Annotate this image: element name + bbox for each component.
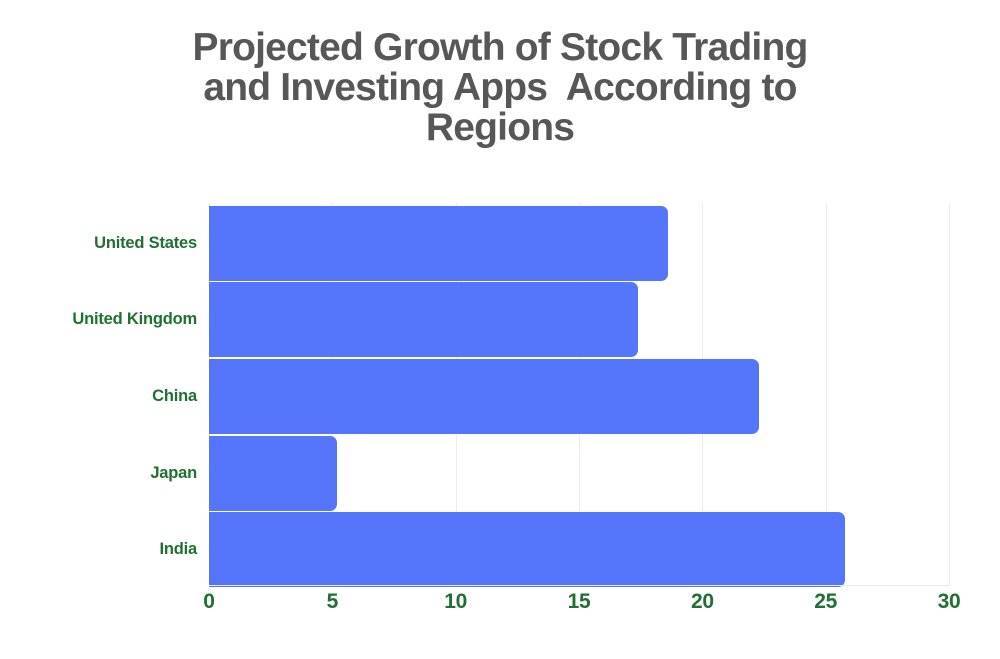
bar-row bbox=[209, 512, 949, 587]
bars-layer bbox=[209, 203, 949, 586]
bar-row bbox=[209, 282, 949, 357]
value-axis-tick-labels: 051015202530 bbox=[209, 590, 949, 624]
category-label-india: India bbox=[0, 512, 197, 587]
bar-china[interactable] bbox=[209, 359, 759, 434]
category-label-japan: Japan bbox=[0, 436, 197, 511]
bar-india[interactable] bbox=[209, 512, 845, 587]
bar-japan[interactable] bbox=[209, 436, 337, 511]
category-label-united-states: United States bbox=[0, 206, 197, 281]
category-label-china: China bbox=[0, 359, 197, 434]
x-axis-line bbox=[209, 585, 949, 586]
chart-title: Projected Growth of Stock Trading and In… bbox=[50, 28, 950, 147]
category-axis-labels: United StatesUnited KingdomChinaJapanInd… bbox=[0, 203, 197, 586]
bar-row bbox=[209, 206, 949, 281]
plot-area bbox=[209, 203, 949, 586]
x-tick-label-10: 10 bbox=[444, 590, 467, 614]
x-tick-label-0: 0 bbox=[203, 590, 214, 614]
x-tick-label-15: 15 bbox=[568, 590, 591, 614]
gridline-30 bbox=[949, 203, 950, 586]
bar-row bbox=[209, 359, 949, 434]
x-tick-label-20: 20 bbox=[691, 590, 714, 614]
x-tick-label-30: 30 bbox=[938, 590, 961, 614]
bar-chart-figure: Projected Growth of Stock Trading and In… bbox=[0, 0, 1000, 659]
bar-united-kingdom[interactable] bbox=[209, 282, 638, 357]
category-label-united-kingdom: United Kingdom bbox=[0, 282, 197, 357]
x-tick-label-5: 5 bbox=[327, 590, 338, 614]
bar-united-states[interactable] bbox=[209, 206, 668, 281]
x-tick-label-25: 25 bbox=[814, 590, 837, 614]
bar-row bbox=[209, 436, 949, 511]
